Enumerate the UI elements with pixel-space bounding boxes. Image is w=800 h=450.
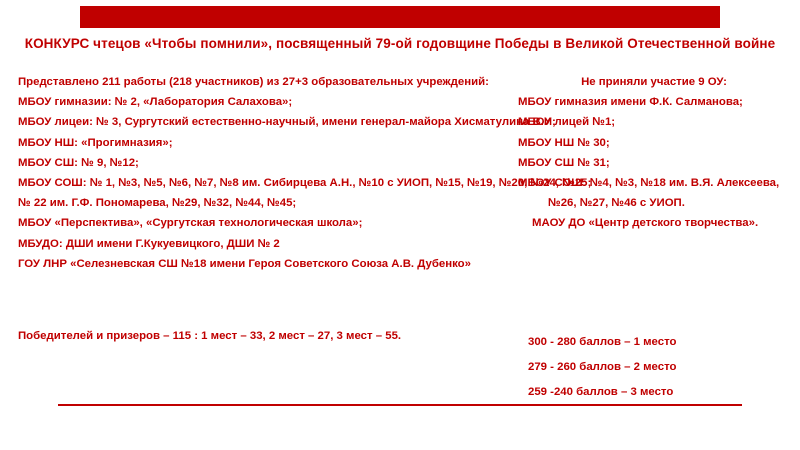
winners-summary: Победителей и призеров – 115 : 1 мест – … [18, 330, 401, 342]
right-line-6: №26, №27, №46 с УИОП. [518, 193, 790, 213]
score-range-2: 279 - 260 баллов – [528, 361, 634, 373]
top-accent-bar [80, 6, 720, 28]
title-part-3: в Великой Отечественной войне [549, 36, 775, 51]
right-column: Не приняли участие 9 ОУ: МБОУ гимназия и… [518, 72, 790, 234]
left-line-2: МБОУ гимназии: № 2, «Лаборатория Салахов… [18, 92, 508, 112]
left-line-8: МБОУ «Перспектива», «Сургутская технолог… [18, 213, 508, 233]
title-part-1: КОНКУРС чтецов «Чтобы помнили», посвящен… [25, 36, 376, 51]
right-column-header: Не приняли участие 9 ОУ: [518, 72, 790, 92]
left-line-3: МБОУ лицеи: № 3, Сургутский естественно-… [18, 112, 508, 132]
score-place-1: 1 место [634, 336, 677, 348]
title-part-2-highlight: 79-ой годовщине Победы [376, 36, 550, 51]
right-line-5: МБОУ СОШ: №4, №3, №18 им. В.Я. Алексеева… [518, 173, 790, 193]
left-line-1: Представлено 211 работы (218 участников)… [18, 72, 508, 92]
score-row-2: 279 - 260 баллов – 2 место [528, 355, 676, 380]
score-row-1: 300 - 280 баллов – 1 место [528, 330, 676, 355]
left-line-7: № 22 им. Г.Ф. Пономарева, №29, №32, №44,… [18, 193, 508, 213]
score-table: 300 - 280 баллов – 1 место 279 - 260 бал… [528, 330, 676, 405]
score-row-3: 259 -240 баллов – 3 место [528, 380, 676, 405]
right-line-2: МБОУ лицей №1; [518, 112, 790, 132]
bottom-divider [58, 404, 742, 406]
right-line-4: МБОУ СШ № 31; [518, 153, 790, 173]
score-range-3: 259 -240 баллов – [528, 386, 630, 398]
right-line-1: МБОУ гимназия имени Ф.К. Салманова; [518, 92, 790, 112]
left-line-10: ГОУ ЛНР «Селезневская СШ №18 имени Героя… [18, 254, 508, 274]
right-line-7: МАОУ ДО «Центр детского творчества». [518, 213, 790, 233]
left-line-5: МБОУ СШ: № 9, №12; [18, 153, 508, 173]
right-line-3: МБОУ НШ № 30; [518, 133, 790, 153]
left-line-9: МБУДО: ДШИ имени Г.Кукуевицкого, ДШИ № 2 [18, 234, 508, 254]
score-place-3: 3 место [630, 386, 673, 398]
left-line-6: МБОУ СОШ: № 1, №3, №5, №6, №7, №8 им. Си… [18, 173, 508, 193]
slide: КОНКУРС чтецов «Чтобы помнили», посвящен… [0, 0, 800, 450]
page-title: КОНКУРС чтецов «Чтобы помнили», посвящен… [20, 36, 780, 51]
left-line-4: МБОУ НШ: «Прогимназия»; [18, 133, 508, 153]
score-place-2: 2 место [634, 361, 677, 373]
score-range-1: 300 - 280 баллов – [528, 336, 634, 348]
left-column: Представлено 211 работы (218 участников)… [18, 72, 508, 274]
